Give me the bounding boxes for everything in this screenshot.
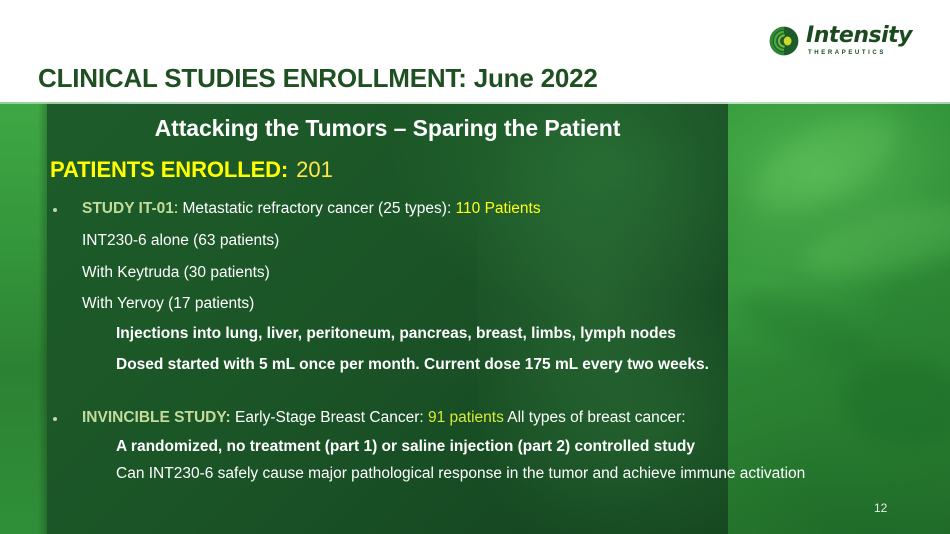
slide-content: Attacking the Tumors – Sparing the Patie… — [0, 102, 950, 534]
study-it01-arm: With Keytruda (30 patients) — [82, 265, 270, 281]
company-logo: Intensity THERAPEUTICS — [769, 25, 912, 56]
study-it01-arm: INT230-6 alone (63 patients) — [82, 233, 279, 249]
study-invincible-description-tail: All types of breast cancer: — [504, 409, 686, 426]
study-invincible-detail-plain: Can INT230-6 safely cause major patholog… — [116, 466, 805, 482]
logo-wordmark: Intensity — [806, 25, 912, 47]
study-it01-arm: With Yervoy (17 patients) — [82, 296, 254, 312]
slide-body: Attacking the Tumors – Sparing the Patie… — [0, 102, 950, 534]
study-invincible-headline: INVINCIBLE STUDY: Early-Stage Breast Can… — [82, 410, 686, 426]
bullet-marker-it01 — [53, 208, 57, 212]
logo-text: Intensity THERAPEUTICS — [806, 25, 912, 56]
patients-enrolled: PATIENTS ENROLLED:201 — [50, 159, 333, 181]
study-it01-note: Injections into lung, liver, peritoneum,… — [116, 326, 676, 342]
study-it01-headline: STUDY IT-01: Metastatic refractory cance… — [82, 201, 541, 217]
study-it01-note: Dosed started with 5 mL once per month. … — [116, 357, 709, 373]
page-title: CLINICAL STUDIES ENROLLMENT: June 2022 — [38, 63, 598, 94]
logo-tagline: THERAPEUTICS — [808, 50, 886, 56]
patients-enrolled-label: PATIENTS ENROLLED: — [50, 157, 288, 182]
study-it01-description: : Metastatic refractory cancer (25 types… — [174, 200, 456, 217]
slide-header: Intensity THERAPEUTICS CLINICAL STUDIES … — [0, 0, 950, 102]
concentric-spiral-icon — [769, 26, 799, 56]
bullet-marker-invincible — [53, 417, 57, 421]
study-invincible-detail-bold: A randomized, no treatment (part 1) or s… — [116, 439, 695, 455]
study-invincible-description: Early-Stage Breast Cancer: — [231, 409, 428, 426]
page-number: 12 — [874, 501, 887, 515]
study-it01-patients: 110 Patients — [456, 200, 541, 217]
study-invincible-name: INVINCIBLE STUDY: — [82, 409, 231, 426]
study-invincible-patients: 91 patients — [428, 409, 504, 426]
patients-enrolled-count: 201 — [296, 157, 333, 182]
slide-subtitle: Attacking the Tumors – Sparing the Patie… — [47, 115, 728, 142]
slide: Intensity THERAPEUTICS CLINICAL STUDIES … — [0, 0, 950, 534]
study-it01-name: STUDY IT-01 — [82, 200, 174, 217]
